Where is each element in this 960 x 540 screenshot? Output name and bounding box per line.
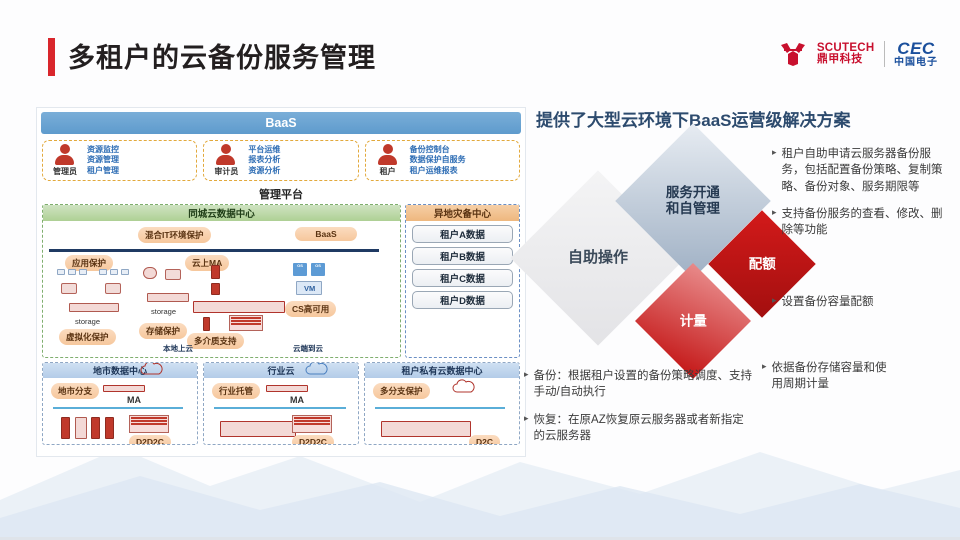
pill-hybrid-it: 混合IT环境保护 (138, 227, 211, 243)
bullet-marker-icon: ▸ (762, 360, 767, 393)
pill-storage-protect: 存储保护 (139, 323, 187, 339)
pill-virtual-protect: 虚拟化保护 (59, 329, 116, 345)
admin-icon-group: 管理员 (47, 144, 83, 177)
bullet-marker-icon: ▸ (524, 412, 529, 445)
tenant-data-item: 租户A数据 (412, 225, 513, 243)
pill-cs-ha: CS高可用 (285, 301, 336, 317)
diamond-label: 计量 (680, 313, 707, 329)
bullet-text: 依据备份存储容量和使用周期计量 (772, 360, 890, 393)
bullet-item: ▸ 恢复：在原AZ恢复原云服务器或者新指定的云服务器 (524, 412, 754, 445)
scutech-logo-icon (778, 41, 808, 67)
scutech-wordmark: SCUTECH 鼎甲科技 (817, 42, 875, 66)
tenant-data-item: 租户B数据 (412, 247, 513, 265)
bullet-marker-icon: ▸ (524, 368, 529, 401)
site-city-datacenter: 地市数据中心 地市分支 MA D2D2C (42, 362, 198, 445)
feature: 租户管理 (87, 166, 119, 177)
backbone-network-line (49, 249, 379, 252)
baas-banner: BaaS (41, 112, 521, 134)
diamond-label-line1: 服务开通 (666, 185, 720, 200)
feature: 租户运维报表 (410, 166, 466, 177)
bullets-service: ▸ 租户自助申请云服务器备份服务，包括配置备份策略、复制策略、备份对象、服务期限… (772, 146, 952, 250)
page-title: 多租户的云备份服务管理 (68, 36, 376, 75)
bullet-item: ▸ 依据备份存储容量和使用周期计量 (762, 360, 952, 393)
site-private-cloud: 租户私有云数据中心 多分支保护 D2C (364, 362, 520, 445)
cec-en: CEC (897, 40, 934, 58)
server-glyph (61, 283, 77, 294)
local-datacenter-panel: 同城云数据中心 混合IT环境保护 BaaS 应用保护 云上MA 虚拟化保护 存储… (42, 204, 401, 358)
bullet-item: ▸ 支持备份服务的查看、修改、删除等功能 (772, 206, 952, 239)
bullets-metering: ▸ 依据备份存储容量和使用周期计量 (762, 360, 952, 404)
bullet-marker-icon: ▸ (772, 294, 777, 310)
site-title: 租户私有云数据中心 (365, 363, 519, 378)
storage-label: storage (151, 307, 176, 316)
cloud-icon (139, 362, 165, 377)
branch-sites-row: 地市数据中心 地市分支 MA D2D2C 行业云 行业托管 MA (37, 358, 525, 450)
feature: 资源管理 (87, 155, 119, 166)
vm-label: VM (304, 284, 315, 293)
pill-cloud-ma: 云上MA (185, 255, 229, 271)
bullet-text: 备份：根据租户设置的备份策略调度、支持手动/自动执行 (534, 368, 754, 401)
bullet-marker-icon: ▸ (772, 146, 777, 195)
diamond-label: 自助操作 (568, 249, 628, 267)
remote-dc-title: 异地灾备中心 (406, 205, 519, 221)
site-tag: D2D2C (292, 435, 334, 445)
diamond-label: 配额 (749, 256, 776, 272)
role-name: 管理员 (53, 166, 77, 177)
person-magnifier-icon (216, 144, 236, 165)
remote-dr-panel: 异地灾备中心 租户A数据 租户B数据 租户C数据 租户D数据 (405, 204, 520, 358)
diamond-label: 服务开通和自管理 (666, 185, 720, 217)
role-row: 管理员 资源监控 资源管理 租户管理 审计员 平台运维 报表分析 资源分析 (37, 138, 525, 185)
diamond-label-line2: 和自管理 (666, 201, 720, 216)
platform-title: 管理平台 (37, 185, 525, 204)
tenant-icon-group: 租户 (370, 144, 406, 177)
role-name: 租户 (380, 166, 396, 177)
site-pill: 行业托管 (212, 383, 260, 399)
local-dc-title: 同城云数据中心 (43, 205, 400, 221)
site-tag: D2D2C (129, 435, 171, 445)
tenant-data-list: 租户A数据 租户B数据 租户C数据 租户D数据 (406, 221, 519, 313)
feature: 资源分析 (248, 166, 280, 177)
bullet-marker-icon: ▸ (772, 206, 777, 239)
person-icon (378, 144, 398, 165)
logo-divider (884, 41, 886, 67)
person-icon (55, 144, 75, 165)
ma-label: MA (290, 395, 304, 405)
link-cloud-to-cloud: 云端到云 (293, 343, 323, 354)
site-title: 行业云 (204, 363, 358, 378)
role-name: 审计员 (214, 166, 238, 177)
feature: 报表分析 (248, 155, 280, 166)
feature: 平台运维 (248, 145, 280, 156)
diamond-cluster: 自助操作 服务开通和自管理 配额 计量 (530, 138, 790, 378)
site-pill: 地市分支 (51, 383, 99, 399)
pill-multimedia: 多介质支持 (187, 333, 244, 349)
bullet-text: 设置备份容量配额 (782, 294, 874, 310)
site-pill: 多分支保护 (373, 383, 430, 399)
admin-features: 资源监控 资源管理 租户管理 (87, 145, 119, 177)
tenant-data-item: 租户D数据 (412, 291, 513, 309)
auditor-icon-group: 审计员 (208, 144, 244, 177)
ma-label: MA (127, 395, 141, 405)
slide-root: 多租户的云备份服务管理 SCUTECH 鼎甲科技 CEC 中国电子 BaaS 管… (0, 0, 960, 540)
bullet-text: 支持备份服务的查看、修改、删除等功能 (782, 206, 952, 239)
logo-group: SCUTECH 鼎甲科技 CEC 中国电子 (778, 40, 938, 68)
bullets-quota: ▸ 设置备份容量配额 (772, 294, 952, 321)
scutech-cn: 鼎甲科技 (817, 54, 875, 66)
bullet-item: ▸ 备份：根据租户设置的备份策略调度、支持手动/自动执行 (524, 368, 754, 401)
datacenter-row: 同城云数据中心 混合IT环境保护 BaaS 应用保护 云上MA 虚拟化保护 存储… (37, 204, 525, 358)
bullet-text: 恢复：在原AZ恢复原云服务器或者新指定的云服务器 (534, 412, 754, 445)
auditor-features: 平台运维 报表分析 资源分析 (248, 145, 280, 177)
feature: 资源监控 (87, 145, 119, 156)
storage-label: storage (75, 317, 100, 326)
bullets-self-operation: ▸ 备份：根据租户设置的备份策略调度、支持手动/自动执行 ▸ 恢复：在原AZ恢复… (524, 368, 754, 455)
site-tag: D2C (469, 435, 500, 445)
tenant-features: 备份控制台 数据保护自服务 租户运维报表 (410, 145, 466, 177)
server-glyph (165, 269, 181, 280)
site-industry-cloud: 行业云 行业托管 MA D2D2C (203, 362, 359, 445)
cec-wordmark: CEC 中国电子 (894, 40, 938, 68)
role-tenant: 租户 备份控制台 数据保护自服务 租户运维报表 (365, 140, 520, 181)
bullet-item: ▸ 租户自助申请云服务器备份服务，包括配置备份策略、复制策略、备份对象、服务期限… (772, 146, 952, 195)
architecture-diagram: BaaS 管理员 资源监控 资源管理 租户管理 审计员 (36, 107, 526, 457)
role-auditor: 审计员 平台运维 报表分析 资源分析 (203, 140, 358, 181)
feature: 数据保护自服务 (410, 155, 466, 166)
cloud-icon (304, 362, 330, 377)
pill-baas: BaaS (295, 227, 357, 241)
role-admin: 管理员 资源监控 资源管理 租户管理 (42, 140, 197, 181)
link-local-upload: 本地上云 (163, 343, 193, 354)
site-title: 地市数据中心 (43, 363, 197, 378)
cec-cn: 中国电子 (894, 58, 938, 69)
tenant-data-item: 租户C数据 (412, 269, 513, 287)
feature: 备份控制台 (410, 145, 466, 156)
title-accent-bar (48, 38, 55, 76)
cloud-icon (451, 379, 477, 395)
server-glyph (105, 283, 121, 294)
bullet-item: ▸ 设置备份容量配额 (772, 294, 952, 310)
bullet-text: 租户自助申请云服务器备份服务，包括配置备份策略、复制策略、备份对象、服务期限等 (782, 146, 952, 195)
